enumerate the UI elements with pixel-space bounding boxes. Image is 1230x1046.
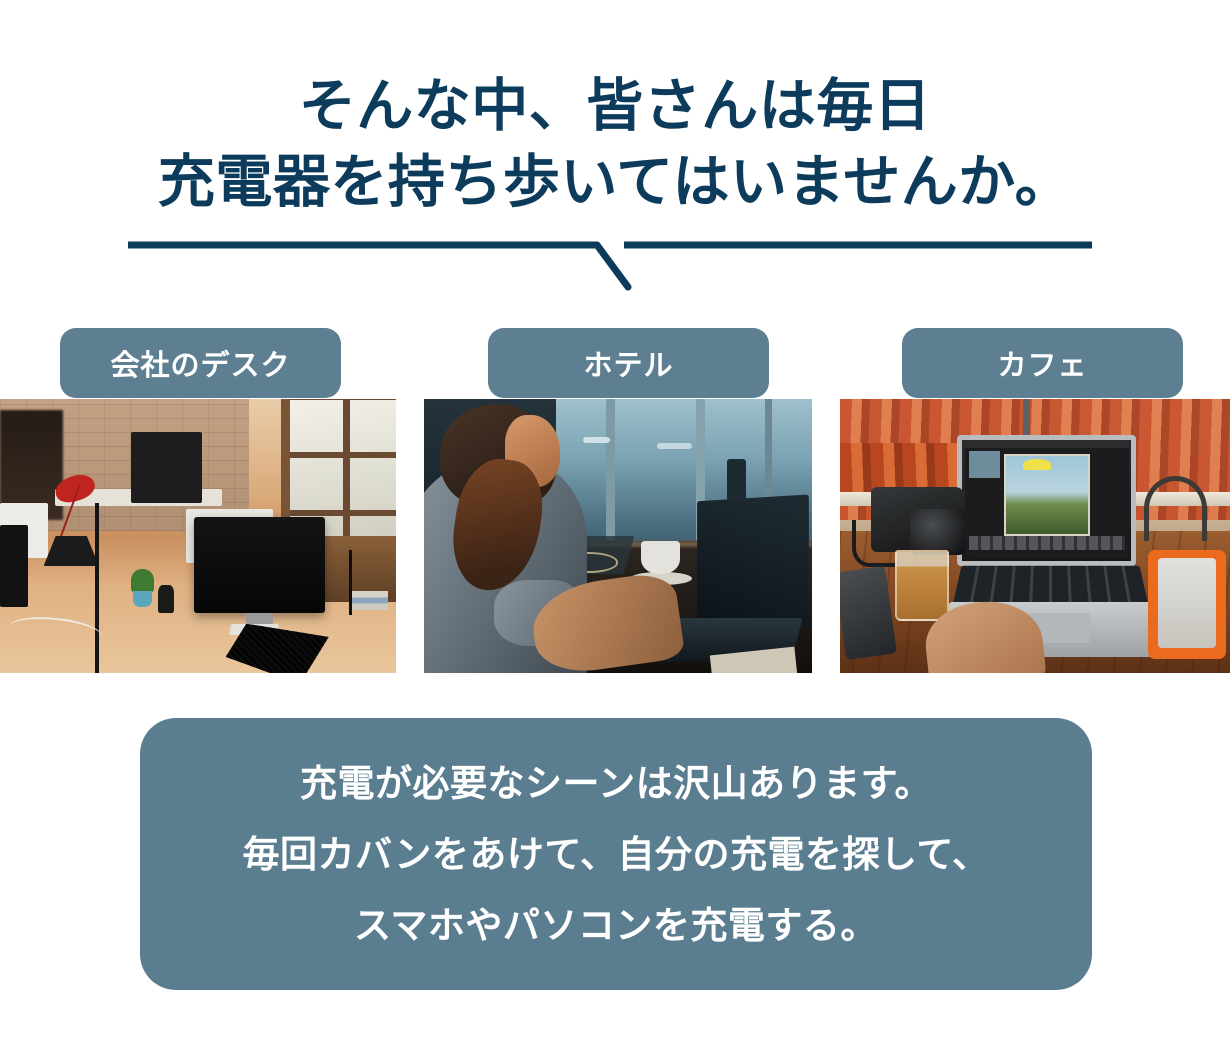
headline-line-1: そんな中、皆さんは毎日 [0,68,1230,144]
cafe-editor-filmstrip [969,536,1125,550]
office-desk-figurine [158,585,174,612]
hotel-door-handle-1 [583,437,610,443]
scene-photo-hotel [424,399,812,673]
caption-line-2: 毎回カバンをあけて、自分の充電を探して、 [242,819,989,890]
hotel-coffee-cup [641,541,680,574]
headline-underline-with-pointer [0,236,1230,298]
cafe-chair-back [1144,476,1206,542]
office-side-monitor [0,525,28,607]
scene-label-office: 会社のデスク [60,328,341,398]
hotel-door-handle-2 [657,443,692,449]
office-photo-composition [0,399,396,673]
cafe-camera-lens [910,509,965,556]
office-monitor-stand [246,613,274,624]
page-headline: そんな中、皆さんは毎日 充電器を持ち歩いてはいませんか。 [0,68,1230,220]
office-black-lamp-shade [44,536,99,566]
cafe-iced-coffee-glass [895,550,950,621]
cafe-editor-thumbnail [969,451,1000,478]
cafe-camera-strap [852,520,895,568]
scene-label-hotel: ホテル [488,328,769,398]
scene-label-office-text: 会社のデスク [110,342,290,384]
office-plant-pot [133,591,153,607]
headline-line-2: 充電器を持ち歩いてはいませんか。 [0,144,1230,220]
cafe-photo-composition [840,399,1230,673]
caption-line-1: 充電が必要なシーンは沢山あります。 [300,748,932,819]
office-plant-leaves [131,569,155,594]
scene-card-hotel: ホテル [424,328,812,673]
hotel-laptop-screen [697,494,809,627]
cafe-paraglider-in-photo [1023,459,1050,470]
summary-caption-box: 充電が必要なシーンは沢山あります。 毎回カバンをあけて、自分の充電を探して、 ス… [140,718,1092,990]
scene-card-office: 会社のデスク [0,328,396,673]
office-book-stack [349,591,389,610]
office-main-monitor [194,517,325,613]
scene-label-cafe-text: カフェ [997,342,1087,384]
scene-photo-cafe [840,399,1230,673]
scene-label-hotel-text: ホテル [583,342,673,384]
scene-card-cafe: カフェ [840,328,1230,673]
scene-label-cafe: カフェ [902,328,1183,398]
office-dark-partition [131,432,202,503]
scene-photo-office [0,399,396,673]
scene-row: 会社のデスク [0,328,1230,673]
hotel-photo-composition [424,399,812,673]
cafe-hard-drive-face [1158,558,1217,648]
office-black-rod [349,550,352,616]
office-lamp-pole [95,503,99,673]
caption-line-3: スマホやパソコンを充電する。 [354,890,878,961]
cafe-editor-toolbar [965,440,1129,448]
